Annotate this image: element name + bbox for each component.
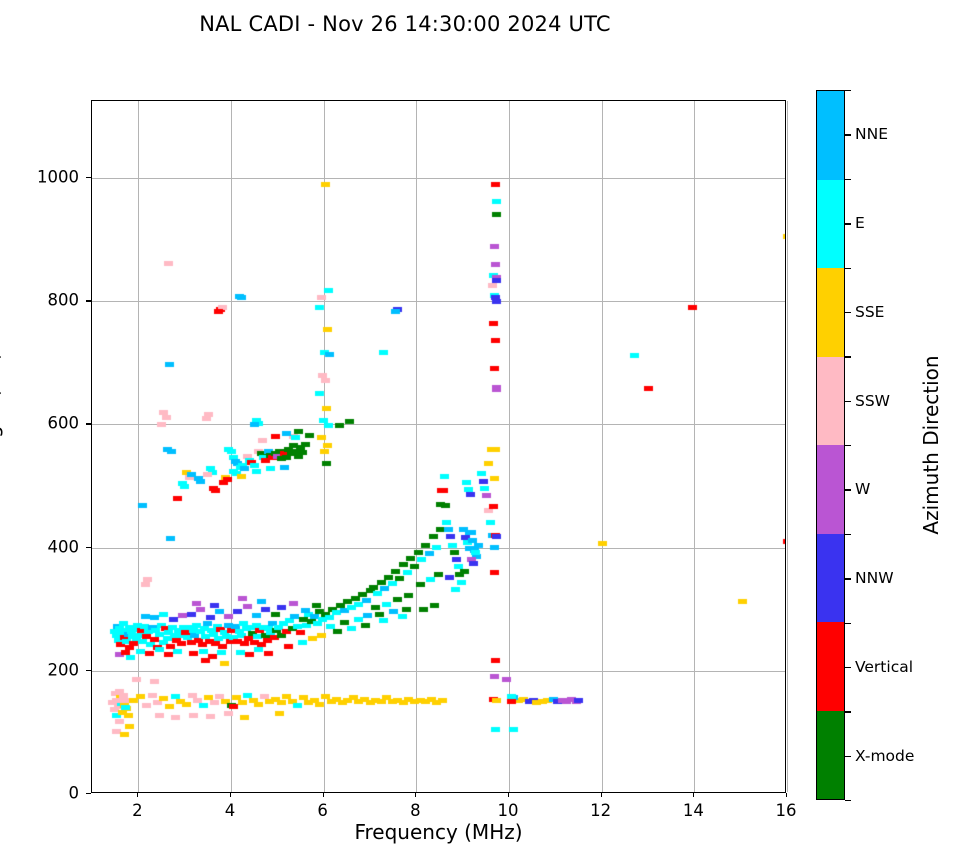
colorbar-label-nne: NNE bbox=[855, 125, 888, 143]
tick-label-y-800: 800 bbox=[48, 291, 80, 310]
colorbar-segment-ssw bbox=[817, 357, 844, 446]
colorbar-tick-ssw bbox=[845, 401, 851, 402]
tick-y-400 bbox=[86, 547, 91, 548]
colorbar-segment-w bbox=[817, 445, 844, 534]
tick-y-200 bbox=[86, 670, 91, 671]
tick-label-y-600: 600 bbox=[48, 414, 80, 433]
tick-x-2 bbox=[137, 793, 138, 797]
ionogram-figure: NAL CADI - Nov 26 14:30:00 2024 UTC 2468… bbox=[0, 0, 958, 857]
tick-x-14 bbox=[693, 793, 694, 797]
colorbar-title: Azimuth Direction bbox=[919, 355, 943, 534]
colorbar-label-x-mode: X-mode bbox=[855, 747, 914, 765]
tick-label-x-10: 10 bbox=[498, 801, 519, 820]
tick-label-y-400: 400 bbox=[48, 537, 80, 556]
colorbar-boundary-tick-4 bbox=[845, 445, 851, 446]
tick-y-800 bbox=[86, 300, 91, 301]
tick-x-6 bbox=[323, 793, 324, 797]
colorbar-segment-nne bbox=[817, 91, 844, 180]
colorbar-end-tick-top bbox=[845, 90, 851, 91]
tick-label-x-4: 4 bbox=[225, 801, 236, 820]
tick-label-x-2: 2 bbox=[132, 801, 143, 820]
tick-label-y-200: 200 bbox=[48, 660, 80, 679]
colorbar-tick-vertical bbox=[845, 667, 851, 668]
colorbar-label-w: W bbox=[855, 480, 870, 498]
tick-y-1000 bbox=[86, 177, 91, 178]
colorbar-boundary-tick-5 bbox=[845, 534, 851, 535]
colorbar-boundary-tick-7 bbox=[845, 711, 851, 712]
colorbar bbox=[816, 90, 845, 800]
colorbar-label-ssw: SSW bbox=[855, 392, 890, 410]
colorbar-segment-vertical bbox=[817, 622, 844, 711]
tick-x-4 bbox=[230, 793, 231, 797]
colorbar-tick-x-mode bbox=[845, 756, 851, 757]
colorbar-end-tick-bottom bbox=[845, 800, 851, 801]
tick-y-0 bbox=[86, 793, 91, 794]
colorbar-segment-nnw bbox=[817, 534, 844, 623]
colorbar-label-vertical: Vertical bbox=[855, 658, 913, 676]
colorbar-tick-nnw bbox=[845, 578, 851, 579]
colorbar-tick-e bbox=[845, 223, 851, 224]
colorbar-label-sse: SSE bbox=[855, 303, 884, 321]
figure-title: NAL CADI - Nov 26 14:30:00 2024 UTC bbox=[0, 12, 810, 36]
colorbar-tick-sse bbox=[845, 312, 851, 313]
colorbar-boundary-tick-1 bbox=[845, 179, 851, 180]
colorbar-segment-x-mode bbox=[817, 711, 844, 800]
colorbar-label-nnw: NNW bbox=[855, 569, 894, 587]
tick-x-10 bbox=[508, 793, 509, 797]
x-axis-label: Frequency (MHz) bbox=[91, 820, 786, 844]
gridline-x-16 bbox=[787, 101, 788, 792]
colorbar-label-e: E bbox=[855, 214, 865, 232]
tick-label-x-6: 6 bbox=[317, 801, 328, 820]
tick-label-x-14: 14 bbox=[683, 801, 704, 820]
colorbar-tick-nne bbox=[845, 134, 851, 135]
colorbar-tick-w bbox=[845, 489, 851, 490]
tick-label-y-1000: 1000 bbox=[37, 168, 79, 187]
colorbar-segment-e bbox=[817, 180, 844, 269]
colorbar-segment-sse bbox=[817, 268, 844, 357]
tick-x-8 bbox=[415, 793, 416, 797]
colorbar-boundary-tick-2 bbox=[845, 268, 851, 269]
tick-x-12 bbox=[601, 793, 602, 797]
tick-x-16 bbox=[786, 793, 787, 797]
plot-area bbox=[91, 100, 786, 793]
y-axis-label: Virtual height (km) bbox=[0, 352, 3, 541]
tick-y-600 bbox=[86, 423, 91, 424]
tick-label-x-8: 8 bbox=[410, 801, 421, 820]
echo-scatter-layer bbox=[92, 101, 785, 792]
tick-label-y-0: 0 bbox=[69, 784, 80, 803]
echo-canvas bbox=[92, 101, 785, 792]
colorbar-boundary-tick-3 bbox=[845, 356, 851, 357]
colorbar-boundary-tick-6 bbox=[845, 623, 851, 624]
tick-label-x-12: 12 bbox=[590, 801, 611, 820]
tick-label-x-16: 16 bbox=[776, 801, 797, 820]
